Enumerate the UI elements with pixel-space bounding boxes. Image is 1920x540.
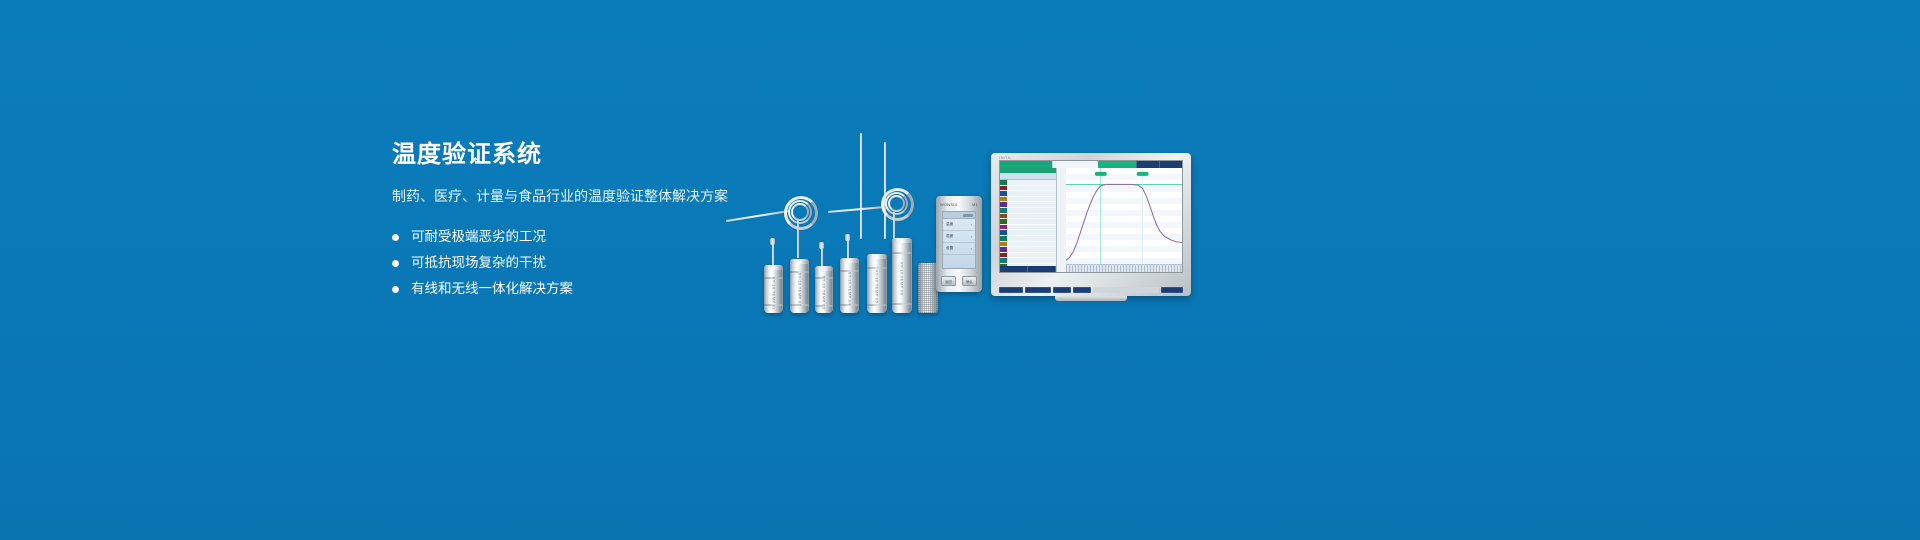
toolbar-save-button[interactable] [1136, 161, 1159, 168]
handheld-menu-label: 湿度 [946, 234, 953, 239]
probe-stem-icon [772, 242, 774, 266]
monitor-stand [1055, 296, 1127, 301]
handheld-reader[interactable]: WONSIX M1 温度 › 湿度 › 设置 › 返回 确认 [936, 196, 982, 292]
probe-stem-icon [797, 220, 799, 258]
taskbar-button-collect[interactable] [999, 287, 1023, 293]
mesh-filter-capsule [918, 263, 938, 313]
feature-label: 可耐受极端恶劣的工况 [411, 224, 546, 250]
taskbar-button-reports[interactable] [1025, 287, 1051, 293]
bullet-dot-icon [392, 286, 399, 293]
data-logger-cylinder: XY-10 TEMP 06 [892, 238, 912, 313]
temperature-chart [1057, 168, 1182, 272]
chart-marker-badges [1095, 172, 1148, 176]
software-taskbar [999, 287, 1183, 293]
monitor-display: INON [991, 153, 1191, 296]
software-toolbar [1000, 161, 1182, 168]
logger-etch-label: XY-10 TEMP 01 [771, 277, 776, 311]
table-rows [1000, 180, 1056, 266]
logger-etch-label: XY-10 TEMP 04 [847, 272, 852, 306]
handheld-statusbar [943, 212, 975, 219]
software-body [1000, 168, 1182, 272]
handheld-screen: 温度 › 湿度 › 设置 › [942, 211, 976, 269]
logger-etch-label: XY-10 TEMP 03 [822, 276, 827, 310]
start-button[interactable] [1000, 266, 1028, 272]
needle-probe-icon [884, 142, 886, 239]
probe-tip-icon [845, 234, 850, 241]
handheld-back-button[interactable]: 返回 [941, 276, 956, 286]
needle-probe-icon [860, 133, 862, 239]
probe-tip-icon [819, 242, 824, 249]
software-window [999, 160, 1183, 273]
coiled-probe-icon [791, 203, 809, 221]
wire-lead-icon [828, 206, 886, 213]
taskbar-button-help[interactable] [1073, 287, 1091, 293]
logger-etch-label: XY-10 TEMP 05 [875, 270, 880, 304]
data-logger-cylinder: XY-10 TEMP 05 [867, 254, 887, 313]
data-logger-cylinder: XY-10 TEMP 04 [840, 258, 859, 313]
taskbar-spacer [1093, 287, 1159, 293]
toolbar-tab-validate[interactable] [1000, 161, 1052, 168]
chart-svg [1066, 168, 1182, 272]
bullet-dot-icon [392, 234, 399, 241]
taskbar-button-exit[interactable] [1161, 287, 1183, 293]
chevron-right-icon: › [971, 247, 972, 251]
handheld-menu-label: 设置 [946, 246, 953, 251]
battery-icon [963, 214, 973, 217]
handheld-menu-item[interactable]: 设置 › [943, 243, 975, 255]
probe-tip-icon [770, 238, 775, 245]
handheld-menu-label: 温度 [946, 222, 953, 227]
chart-horizontal-scrollbar[interactable] [1066, 264, 1182, 272]
data-logger-cylinder: XY-10 TEMP 03 [815, 266, 833, 313]
chart-series-line [1066, 184, 1182, 260]
handheld-buttons: 返回 确认 [941, 275, 977, 287]
handheld-brand-label: WONSIX [940, 202, 957, 207]
channel-table [1000, 168, 1057, 272]
data-logger-cylinder: XY-10 TEMP 02 [790, 259, 809, 313]
handheld-menu-item[interactable]: 湿度 › [943, 231, 975, 243]
hero-banner: 温度验证系统 制药、医疗、计量与食品行业的温度验证整体解决方案 可耐受极端恶劣的… [0, 0, 1920, 540]
chevron-right-icon: › [971, 235, 972, 239]
handheld-brand-row: WONSIX M1 [940, 201, 978, 208]
wire-lead-icon [726, 210, 789, 222]
chevron-right-icon: › [971, 223, 972, 227]
table-footer-buttons [1000, 266, 1056, 272]
logger-etch-label: XY-10 TEMP 06 [900, 262, 905, 296]
taskbar-button-settings[interactable] [1053, 287, 1071, 293]
probe-stem-icon [821, 246, 823, 266]
handheld-confirm-button[interactable]: 确认 [962, 276, 977, 286]
data-logger-cylinder: XY-10 TEMP 01 [764, 265, 783, 313]
toolbar-export-button[interactable] [1159, 161, 1182, 168]
feature-label: 有线和无线一体化解决方案 [411, 276, 573, 302]
handheld-menu-item[interactable]: 温度 › [943, 219, 975, 231]
coiled-probe-icon [888, 195, 905, 212]
toolbar-spacer [1052, 161, 1098, 168]
bullet-dot-icon [392, 260, 399, 267]
handheld-model-label: M1 [972, 202, 978, 207]
chart-marker-group [1101, 168, 1143, 272]
stop-button[interactable] [1028, 266, 1056, 272]
logger-etch-label: XY-10 TEMP 02 [797, 273, 802, 307]
toolbar-status-badge [1098, 161, 1136, 168]
feature-label: 可抵抗现场复杂的干扰 [411, 250, 546, 276]
